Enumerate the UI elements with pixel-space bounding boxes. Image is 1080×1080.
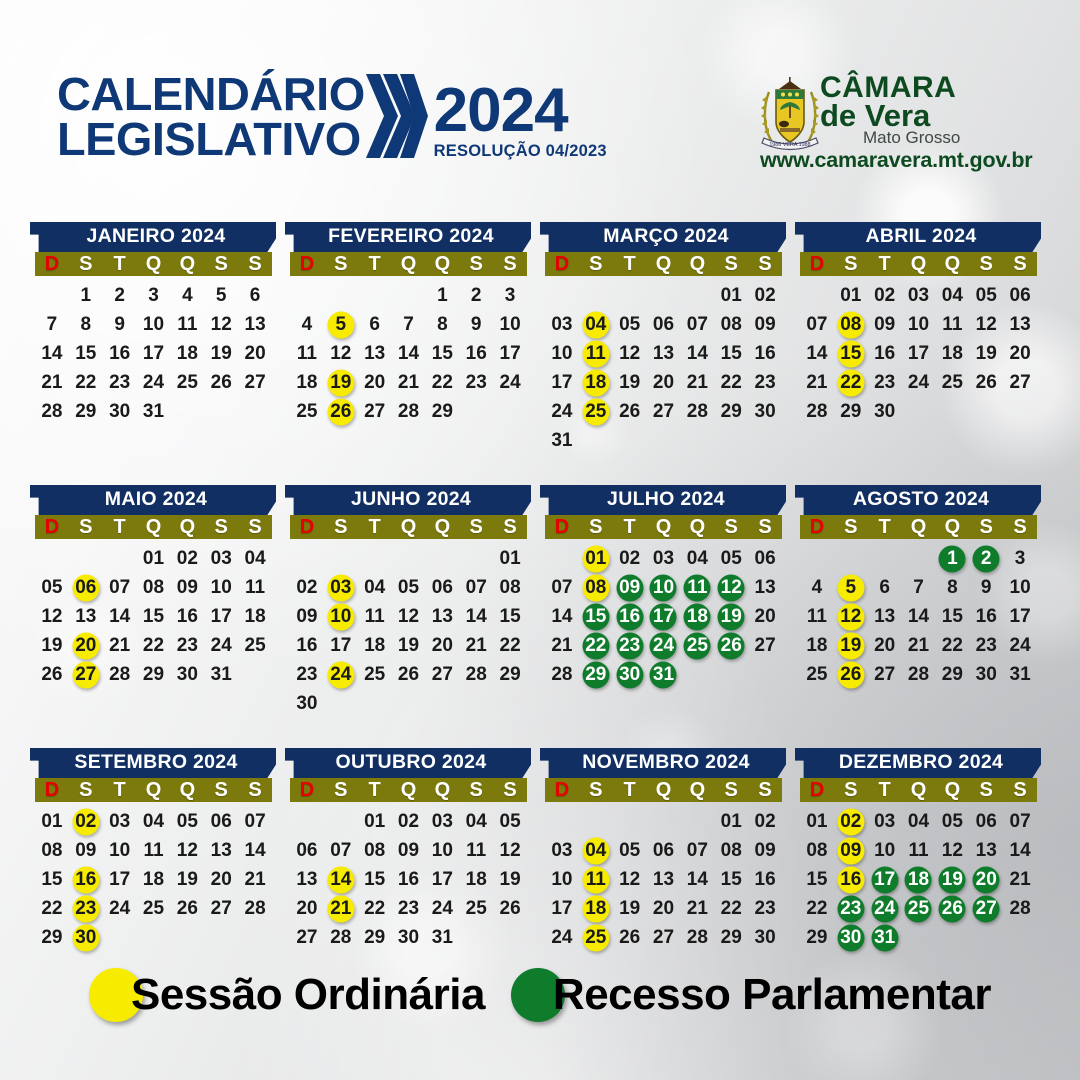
day-cell[interactable]: 14 [902, 602, 936, 631]
day-cell[interactable]: 28 [392, 397, 426, 426]
day-cell-sessao[interactable]: 25 [579, 923, 613, 952]
day-cell[interactable]: 17 [204, 602, 238, 631]
day-cell[interactable]: 04 [459, 807, 493, 836]
day-cell[interactable]: 15 [69, 339, 103, 368]
day-cell[interactable]: 24 [493, 368, 527, 397]
day-cell[interactable]: 19 [613, 894, 647, 923]
day-cell[interactable]: 02 [392, 807, 426, 836]
day-cell-sessao[interactable]: 04 [579, 310, 613, 339]
day-cell[interactable]: 21 [1003, 865, 1037, 894]
day-cell[interactable]: 13 [238, 310, 272, 339]
day-cell-sessao[interactable]: 24 [324, 660, 358, 689]
day-cell[interactable]: 18 [358, 631, 392, 660]
day-cell[interactable]: 29 [358, 923, 392, 952]
day-cell[interactable]: 08 [714, 310, 748, 339]
day-cell[interactable]: 07 [1003, 807, 1037, 836]
day-cell[interactable]: 09 [290, 602, 324, 631]
day-cell[interactable]: 13 [425, 602, 459, 631]
day-cell-recesso[interactable]: 19 [714, 602, 748, 631]
day-cell[interactable]: 17 [425, 865, 459, 894]
day-cell[interactable]: 28 [324, 923, 358, 952]
day-cell[interactable]: 05 [935, 807, 969, 836]
day-cell-recesso[interactable]: 26 [935, 894, 969, 923]
day-cell[interactable]: 30 [290, 689, 324, 718]
day-cell[interactable]: 28 [545, 660, 579, 689]
day-cell[interactable]: 27 [868, 660, 902, 689]
day-cell-sessao[interactable]: 26 [324, 397, 358, 426]
day-cell[interactable]: 29 [714, 397, 748, 426]
day-cell[interactable]: 17 [493, 339, 527, 368]
day-cell[interactable]: 22 [137, 631, 171, 660]
day-cell-sessao[interactable]: 21 [324, 894, 358, 923]
day-cell[interactable]: 14 [680, 339, 714, 368]
day-cell-recesso[interactable]: 2 [969, 544, 1003, 573]
day-cell[interactable]: 21 [545, 631, 579, 660]
day-cell-recesso[interactable]: 18 [680, 602, 714, 631]
day-cell[interactable]: 25 [459, 894, 493, 923]
day-cell[interactable]: 01 [800, 807, 834, 836]
day-cell[interactable]: 29 [69, 397, 103, 426]
day-cell-recesso[interactable]: 20 [969, 865, 1003, 894]
day-cell[interactable]: 31 [1003, 660, 1037, 689]
day-cell[interactable]: 26 [613, 923, 647, 952]
day-cell[interactable]: 22 [800, 894, 834, 923]
day-cell[interactable]: 06 [204, 807, 238, 836]
day-cell[interactable]: 18 [170, 339, 204, 368]
day-cell-sessao[interactable]: 19 [834, 631, 868, 660]
day-cell[interactable]: 29 [425, 397, 459, 426]
day-cell-sessao[interactable]: 09 [834, 836, 868, 865]
day-cell[interactable]: 04 [902, 807, 936, 836]
day-cell-sessao[interactable]: 27 [69, 660, 103, 689]
day-cell-recesso[interactable]: 31 [868, 923, 902, 952]
day-cell[interactable]: 15 [935, 602, 969, 631]
day-cell[interactable]: 24 [902, 368, 936, 397]
day-cell[interactable]: 01 [493, 544, 527, 573]
day-cell[interactable]: 25 [358, 660, 392, 689]
day-cell[interactable]: 17 [1003, 602, 1037, 631]
day-cell[interactable]: 3 [493, 281, 527, 310]
day-cell[interactable]: 02 [613, 544, 647, 573]
day-cell[interactable]: 21 [680, 368, 714, 397]
day-cell[interactable]: 25 [800, 660, 834, 689]
day-cell[interactable]: 06 [425, 573, 459, 602]
day-cell[interactable]: 08 [800, 836, 834, 865]
day-cell-recesso[interactable]: 22 [579, 631, 613, 660]
day-cell[interactable]: 07 [680, 836, 714, 865]
day-cell-recesso[interactable]: 11 [680, 573, 714, 602]
day-cell[interactable]: 18 [459, 865, 493, 894]
day-cell-sessao[interactable]: 20 [69, 631, 103, 660]
day-cell[interactable]: 02 [290, 573, 324, 602]
day-cell[interactable]: 30 [748, 923, 782, 952]
day-cell[interactable]: 28 [1003, 894, 1037, 923]
day-cell-sessao[interactable]: 11 [579, 339, 613, 368]
day-cell[interactable]: 03 [868, 807, 902, 836]
day-cell-recesso[interactable]: 09 [613, 573, 647, 602]
day-cell[interactable]: 07 [238, 807, 272, 836]
day-cell[interactable]: 05 [613, 836, 647, 865]
day-cell[interactable]: 08 [35, 836, 69, 865]
day-cell[interactable]: 27 [290, 923, 324, 952]
day-cell[interactable]: 20 [238, 339, 272, 368]
day-cell[interactable]: 26 [204, 368, 238, 397]
day-cell-recesso[interactable]: 17 [647, 602, 681, 631]
day-cell[interactable]: 25 [935, 368, 969, 397]
day-cell[interactable]: 4 [800, 573, 834, 602]
day-cell-recesso[interactable]: 23 [613, 631, 647, 660]
day-cell[interactable]: 7 [392, 310, 426, 339]
day-cell[interactable]: 17 [545, 894, 579, 923]
day-cell-sessao[interactable]: 03 [324, 573, 358, 602]
day-cell[interactable]: 19 [35, 631, 69, 660]
day-cell-recesso[interactable]: 25 [680, 631, 714, 660]
day-cell-sessao[interactable]: 08 [834, 310, 868, 339]
day-cell[interactable]: 17 [103, 865, 137, 894]
day-cell[interactable]: 02 [170, 544, 204, 573]
day-cell[interactable]: 10 [137, 310, 171, 339]
day-cell[interactable]: 24 [545, 397, 579, 426]
day-cell[interactable]: 28 [680, 397, 714, 426]
day-cell[interactable]: 04 [935, 281, 969, 310]
day-cell[interactable]: 02 [748, 807, 782, 836]
day-cell[interactable]: 29 [935, 660, 969, 689]
day-cell-sessao[interactable]: 12 [834, 602, 868, 631]
day-cell[interactable]: 05 [493, 807, 527, 836]
day-cell[interactable]: 03 [647, 544, 681, 573]
day-cell[interactable]: 05 [170, 807, 204, 836]
day-cell[interactable]: 09 [69, 836, 103, 865]
day-cell[interactable]: 24 [545, 923, 579, 952]
day-cell[interactable]: 29 [137, 660, 171, 689]
day-cell[interactable]: 06 [1003, 281, 1037, 310]
day-cell[interactable]: 15 [137, 602, 171, 631]
day-cell[interactable]: 5 [204, 281, 238, 310]
day-cell[interactable]: 4 [170, 281, 204, 310]
day-cell-sessao[interactable]: 08 [579, 573, 613, 602]
day-cell-sessao[interactable]: 19 [324, 368, 358, 397]
day-cell[interactable]: 4 [290, 310, 324, 339]
day-cell[interactable]: 21 [103, 631, 137, 660]
day-cell[interactable]: 18 [800, 631, 834, 660]
day-cell-sessao[interactable]: 18 [579, 894, 613, 923]
day-cell[interactable]: 15 [714, 865, 748, 894]
day-cell[interactable]: 11 [800, 602, 834, 631]
day-cell[interactable]: 07 [545, 573, 579, 602]
day-cell[interactable]: 11 [358, 602, 392, 631]
day-cell[interactable]: 13 [647, 865, 681, 894]
day-cell-sessao[interactable]: 14 [324, 865, 358, 894]
day-cell[interactable]: 1 [425, 281, 459, 310]
day-cell[interactable]: 30 [868, 397, 902, 426]
day-cell[interactable]: 9 [969, 573, 1003, 602]
day-cell[interactable]: 05 [714, 544, 748, 573]
day-cell[interactable]: 16 [392, 865, 426, 894]
day-cell[interactable]: 31 [425, 923, 459, 952]
day-cell[interactable]: 27 [425, 660, 459, 689]
day-cell[interactable]: 08 [358, 836, 392, 865]
day-cell-recesso[interactable]: 30 [613, 660, 647, 689]
day-cell[interactable]: 14 [459, 602, 493, 631]
day-cell[interactable]: 21 [392, 368, 426, 397]
day-cell[interactable]: 09 [868, 310, 902, 339]
day-cell-recesso[interactable]: 31 [647, 660, 681, 689]
day-cell[interactable]: 11 [238, 573, 272, 602]
day-cell[interactable]: 09 [170, 573, 204, 602]
day-cell[interactable]: 05 [613, 310, 647, 339]
day-cell[interactable]: 05 [969, 281, 1003, 310]
day-cell[interactable]: 16 [748, 339, 782, 368]
day-cell[interactable]: 22 [493, 631, 527, 660]
day-cell[interactable]: 10 [545, 339, 579, 368]
day-cell[interactable]: 23 [103, 368, 137, 397]
day-cell[interactable]: 11 [459, 836, 493, 865]
day-cell[interactable]: 08 [714, 836, 748, 865]
day-cell[interactable]: 27 [1003, 368, 1037, 397]
day-cell[interactable]: 29 [714, 923, 748, 952]
day-cell[interactable]: 8 [935, 573, 969, 602]
day-cell[interactable]: 2 [103, 281, 137, 310]
day-cell[interactable]: 16 [969, 602, 1003, 631]
day-cell[interactable]: 10 [902, 310, 936, 339]
day-cell[interactable]: 12 [35, 602, 69, 631]
day-cell[interactable]: 25 [238, 631, 272, 660]
day-cell[interactable]: 03 [103, 807, 137, 836]
day-cell-recesso[interactable]: 17 [868, 865, 902, 894]
day-cell[interactable]: 10 [493, 310, 527, 339]
day-cell[interactable]: 11 [935, 310, 969, 339]
day-cell[interactable]: 06 [748, 544, 782, 573]
day-cell-sessao[interactable]: 04 [579, 836, 613, 865]
day-cell[interactable]: 29 [834, 397, 868, 426]
day-cell[interactable]: 27 [748, 631, 782, 660]
day-cell[interactable]: 14 [545, 602, 579, 631]
day-cell-recesso[interactable]: 19 [935, 865, 969, 894]
day-cell[interactable]: 19 [493, 865, 527, 894]
day-cell[interactable]: 12 [969, 310, 1003, 339]
day-cell[interactable]: 07 [103, 573, 137, 602]
day-cell[interactable]: 15 [800, 865, 834, 894]
day-cell[interactable]: 13 [290, 865, 324, 894]
day-cell[interactable]: 26 [613, 397, 647, 426]
day-cell[interactable]: 3 [137, 281, 171, 310]
day-cell[interactable]: 09 [748, 310, 782, 339]
day-cell[interactable]: 19 [969, 339, 1003, 368]
day-cell[interactable]: 26 [493, 894, 527, 923]
day-cell[interactable]: 10 [204, 573, 238, 602]
day-cell[interactable]: 16 [103, 339, 137, 368]
day-cell[interactable]: 6 [238, 281, 272, 310]
day-cell-sessao[interactable]: 5 [324, 310, 358, 339]
day-cell[interactable]: 8 [425, 310, 459, 339]
day-cell[interactable]: 23 [969, 631, 1003, 660]
day-cell-sessao[interactable]: 02 [69, 807, 103, 836]
day-cell[interactable]: 27 [647, 923, 681, 952]
day-cell[interactable]: 03 [545, 836, 579, 865]
day-cell-recesso[interactable]: 25 [902, 894, 936, 923]
day-cell[interactable]: 20 [748, 602, 782, 631]
day-cell[interactable]: 06 [969, 807, 1003, 836]
day-cell[interactable]: 24 [425, 894, 459, 923]
day-cell[interactable]: 01 [137, 544, 171, 573]
day-cell[interactable]: 21 [238, 865, 272, 894]
day-cell[interactable]: 10 [103, 836, 137, 865]
day-cell-sessao[interactable]: 23 [69, 894, 103, 923]
day-cell[interactable]: 19 [170, 865, 204, 894]
day-cell[interactable]: 17 [137, 339, 171, 368]
day-cell[interactable]: 07 [680, 310, 714, 339]
day-cell[interactable]: 14 [103, 602, 137, 631]
day-cell-recesso[interactable]: 24 [868, 894, 902, 923]
day-cell[interactable]: 28 [35, 397, 69, 426]
day-cell[interactable]: 13 [204, 836, 238, 865]
day-cell[interactable]: 28 [902, 660, 936, 689]
day-cell[interactable]: 20 [204, 865, 238, 894]
day-cell-sessao[interactable]: 22 [834, 368, 868, 397]
day-cell-recesso[interactable]: 26 [714, 631, 748, 660]
day-cell-recesso[interactable]: 10 [647, 573, 681, 602]
day-cell[interactable]: 05 [392, 573, 426, 602]
day-cell[interactable]: 14 [680, 865, 714, 894]
day-cell[interactable]: 20 [647, 368, 681, 397]
day-cell[interactable]: 03 [902, 281, 936, 310]
day-cell[interactable]: 04 [358, 573, 392, 602]
day-cell-sessao[interactable]: 02 [834, 807, 868, 836]
day-cell[interactable]: 16 [868, 339, 902, 368]
day-cell[interactable]: 24 [1003, 631, 1037, 660]
day-cell-sessao[interactable]: 18 [579, 368, 613, 397]
day-cell[interactable]: 24 [137, 368, 171, 397]
day-cell-recesso[interactable]: 23 [834, 894, 868, 923]
day-cell[interactable]: 23 [748, 894, 782, 923]
day-cell[interactable]: 16 [170, 602, 204, 631]
day-cell[interactable]: 25 [170, 368, 204, 397]
day-cell-recesso[interactable]: 24 [647, 631, 681, 660]
day-cell[interactable]: 19 [204, 339, 238, 368]
day-cell[interactable]: 12 [324, 339, 358, 368]
day-cell[interactable]: 01 [714, 281, 748, 310]
day-cell[interactable]: 9 [103, 310, 137, 339]
day-cell[interactable]: 30 [170, 660, 204, 689]
day-cell[interactable]: 26 [170, 894, 204, 923]
day-cell-recesso[interactable]: 15 [579, 602, 613, 631]
day-cell[interactable]: 17 [902, 339, 936, 368]
day-cell[interactable]: 28 [800, 397, 834, 426]
day-cell[interactable]: 04 [137, 807, 171, 836]
day-cell[interactable]: 22 [69, 368, 103, 397]
day-cell[interactable]: 28 [238, 894, 272, 923]
day-cell[interactable]: 11 [902, 836, 936, 865]
day-cell[interactable]: 14 [392, 339, 426, 368]
day-cell-sessao[interactable]: 10 [324, 602, 358, 631]
day-cell-sessao[interactable]: 16 [69, 865, 103, 894]
day-cell[interactable]: 01 [834, 281, 868, 310]
day-cell-recesso[interactable]: 27 [969, 894, 1003, 923]
day-cell[interactable]: 28 [680, 923, 714, 952]
day-cell[interactable]: 09 [748, 836, 782, 865]
day-cell[interactable]: 8 [69, 310, 103, 339]
day-cell[interactable]: 08 [493, 573, 527, 602]
day-cell[interactable]: 25 [137, 894, 171, 923]
day-cell[interactable]: 06 [290, 836, 324, 865]
day-cell[interactable]: 18 [290, 368, 324, 397]
day-cell[interactable]: 24 [204, 631, 238, 660]
day-cell[interactable]: 02 [748, 281, 782, 310]
day-cell[interactable]: 21 [902, 631, 936, 660]
day-cell[interactable]: 23 [459, 368, 493, 397]
day-cell[interactable]: 17 [324, 631, 358, 660]
day-cell[interactable]: 23 [392, 894, 426, 923]
day-cell-sessao[interactable]: 16 [834, 865, 868, 894]
day-cell[interactable]: 23 [290, 660, 324, 689]
day-cell[interactable]: 20 [425, 631, 459, 660]
day-cell-recesso[interactable]: 29 [579, 660, 613, 689]
day-cell[interactable]: 23 [748, 368, 782, 397]
day-cell[interactable]: 08 [137, 573, 171, 602]
day-cell[interactable]: 09 [392, 836, 426, 865]
day-cell[interactable]: 14 [800, 339, 834, 368]
day-cell[interactable]: 14 [35, 339, 69, 368]
day-cell[interactable]: 27 [204, 894, 238, 923]
day-cell-recesso[interactable]: 30 [834, 923, 868, 952]
day-cell[interactable]: 12 [613, 865, 647, 894]
day-cell[interactable]: 2 [459, 281, 493, 310]
day-cell-recesso[interactable]: 12 [714, 573, 748, 602]
day-cell-sessao[interactable]: 15 [834, 339, 868, 368]
day-cell[interactable]: 12 [935, 836, 969, 865]
day-cell[interactable]: 12 [392, 602, 426, 631]
day-cell[interactable]: 25 [290, 397, 324, 426]
day-cell[interactable]: 13 [748, 573, 782, 602]
day-cell[interactable]: 19 [613, 368, 647, 397]
day-cell[interactable]: 10 [425, 836, 459, 865]
day-cell[interactable]: 07 [459, 573, 493, 602]
day-cell[interactable]: 16 [290, 631, 324, 660]
day-cell[interactable]: 29 [493, 660, 527, 689]
day-cell[interactable]: 01 [714, 807, 748, 836]
day-cell[interactable]: 6 [358, 310, 392, 339]
day-cell[interactable]: 21 [459, 631, 493, 660]
day-cell[interactable]: 26 [35, 660, 69, 689]
day-cell[interactable]: 21 [35, 368, 69, 397]
day-cell[interactable]: 14 [238, 836, 272, 865]
day-cell-sessao[interactable]: 11 [579, 865, 613, 894]
day-cell[interactable]: 17 [545, 368, 579, 397]
day-cell[interactable]: 26 [392, 660, 426, 689]
day-cell[interactable]: 15 [714, 339, 748, 368]
day-cell[interactable]: 05 [35, 573, 69, 602]
day-cell[interactable]: 13 [647, 339, 681, 368]
day-cell[interactable]: 11 [170, 310, 204, 339]
day-cell[interactable]: 22 [714, 894, 748, 923]
day-cell[interactable]: 16 [459, 339, 493, 368]
day-cell[interactable]: 03 [204, 544, 238, 573]
day-cell[interactable]: 15 [425, 339, 459, 368]
day-cell[interactable]: 02 [868, 281, 902, 310]
day-cell[interactable]: 26 [969, 368, 1003, 397]
day-cell[interactable]: 31 [204, 660, 238, 689]
day-cell[interactable]: 04 [238, 544, 272, 573]
day-cell[interactable]: 07 [800, 310, 834, 339]
day-cell[interactable]: 13 [868, 602, 902, 631]
day-cell[interactable]: 13 [358, 339, 392, 368]
day-cell[interactable]: 23 [868, 368, 902, 397]
day-cell[interactable]: 18 [935, 339, 969, 368]
day-cell[interactable]: 30 [748, 397, 782, 426]
day-cell[interactable]: 07 [324, 836, 358, 865]
day-cell[interactable]: 9 [459, 310, 493, 339]
day-cell[interactable]: 22 [35, 894, 69, 923]
